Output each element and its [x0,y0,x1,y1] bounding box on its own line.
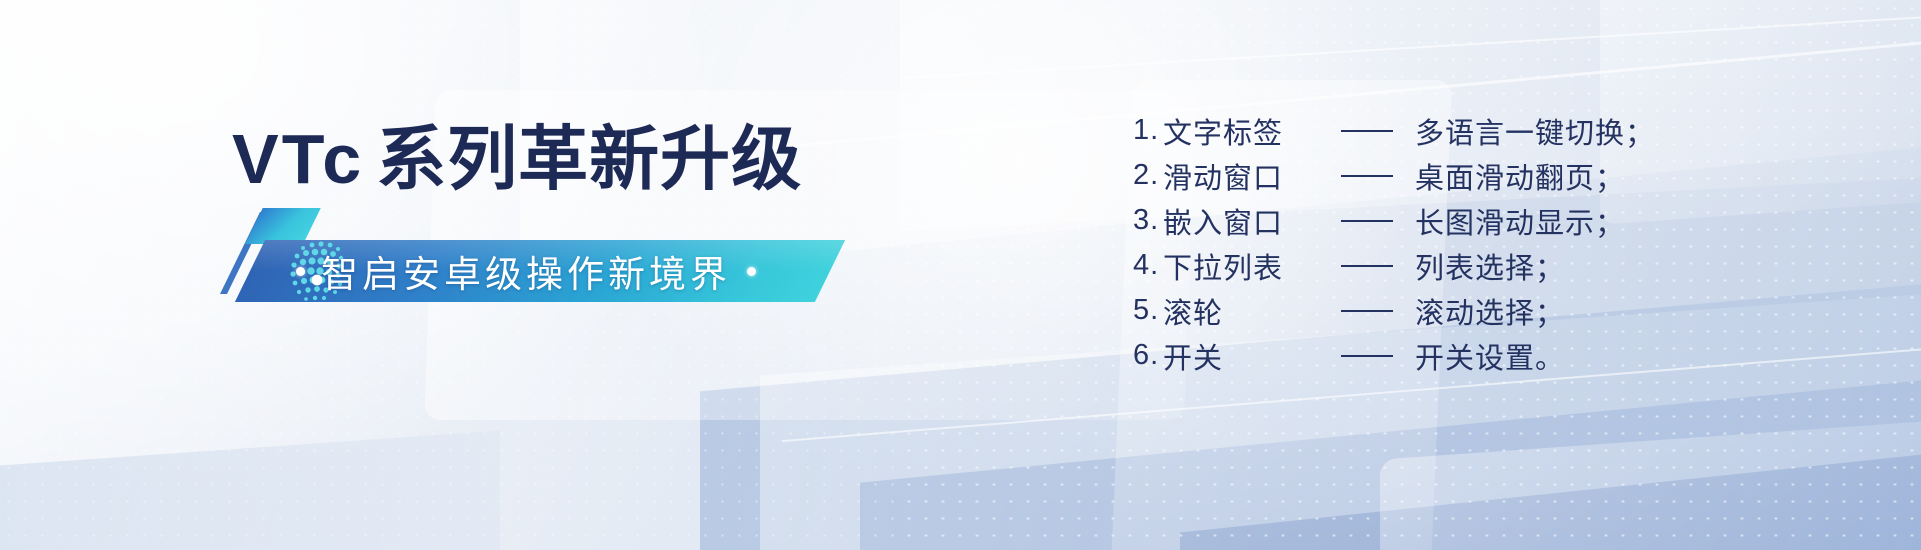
feature-desc: 多语言一键切换； [1415,110,1655,152]
feature-desc: 长图滑动显示； [1415,200,1625,242]
feature-index: 6. [1133,339,1163,372]
bullet-dot-left [296,267,305,276]
feature-name: 滑动窗口 [1163,155,1341,197]
list-item: 2. 滑动窗口 桌面滑动翻页； [1133,153,1655,198]
title-cjk: 系列革新升级 [376,120,802,198]
feature-desc: 桌面滑动翻页； [1415,155,1625,197]
list-item: 3. 嵌入窗口 长图滑动显示； [1133,198,1655,243]
feature-name: 文字标签 [1163,110,1341,152]
band-lower-2 [860,357,1921,550]
feature-name: 滚轮 [1163,290,1341,332]
feature-desc: 滚动选择； [1415,290,1565,332]
list-item: 4. 下拉列表 列表选择； [1133,243,1655,288]
band-lower-3 [1180,427,1921,550]
title-latin: VTc [232,120,364,198]
feature-index: 3. [1133,204,1163,237]
feature-name: 嵌入窗口 [1163,200,1341,242]
feature-dash-icon [1341,310,1415,312]
list-item: 5. 滚轮 滚动选择； [1133,288,1655,333]
list-item: 6. 开关 开关设置。 [1133,333,1655,378]
subtitle-ribbon-group: 智启安卓级操作新境界 [236,206,856,316]
subtitle-label: 智启安卓级操作新境界 [321,244,731,298]
feature-list: 1. 文字标签 多语言一键切换； 2. 滑动窗口 桌面滑动翻页； 3. 嵌入窗口… [1133,108,1655,378]
bullet-dot-right [747,267,756,276]
feature-name: 开关 [1163,335,1341,377]
feature-index: 4. [1133,249,1163,282]
subtitle-text: 智启安卓级操作新境界 [236,240,816,302]
feature-dash-icon [1341,265,1415,267]
list-item: 1. 文字标签 多语言一键切换； [1133,108,1655,153]
feature-desc: 开关设置。 [1415,335,1565,377]
feature-index: 1. [1133,114,1163,147]
light-streak-2 [901,15,1921,79]
feature-dash-icon [1341,220,1415,222]
feature-name: 下拉列表 [1163,245,1341,287]
feature-index: 5. [1133,294,1163,327]
headline-block: VTc系列革新升级 [0,0,920,550]
feature-dash-icon [1341,355,1415,357]
feature-dash-icon [1341,130,1415,132]
feature-dash-icon [1341,175,1415,177]
page-title: VTc系列革新升级 [232,124,802,194]
feature-index: 2. [1133,159,1163,192]
promo-banner: VTc系列革新升级 [0,0,1921,550]
feature-desc: 列表选择； [1415,245,1565,287]
glass-card-bottom-right [1380,420,1921,550]
